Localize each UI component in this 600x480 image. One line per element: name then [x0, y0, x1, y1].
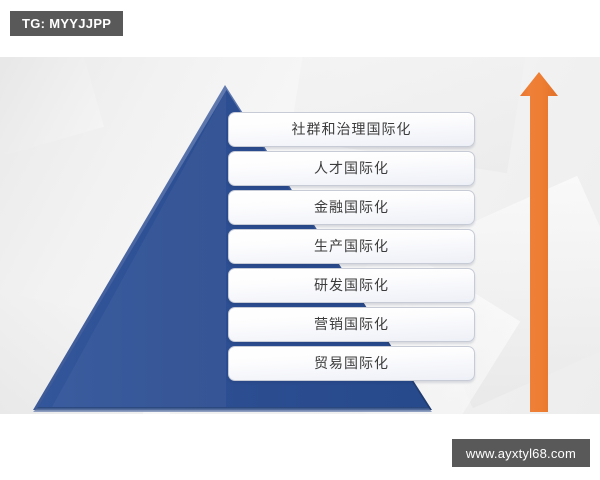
pyramid-level-3[interactable]: 金融国际化 — [228, 190, 475, 225]
pyramid-level-1-label: 社群和治理国际化 — [292, 123, 412, 137]
pyramid-level-2[interactable]: 人才国际化 — [228, 151, 475, 186]
pyramid-level-6-label: 营销国际化 — [314, 318, 389, 332]
pyramid-level-2-label: 人才国际化 — [314, 162, 389, 176]
pyramid-level-3-label: 金融国际化 — [314, 201, 389, 215]
pyramid-level-5-label: 研发国际化 — [314, 279, 389, 293]
pyramid-level-7-label: 贸易国际化 — [314, 357, 389, 371]
slide-canvas: 社群和治理国际化 人才国际化 金融国际化 生产国际化 研发国际化 营销国际化 贸… — [0, 57, 600, 414]
pyramid-level-4[interactable]: 生产国际化 — [228, 229, 475, 264]
up-arrow-svg — [518, 70, 560, 413]
site-watermark: www.ayxtyl68.com — [452, 439, 590, 467]
pyramid-level-5[interactable]: 研发国际化 — [228, 268, 475, 303]
pyramid-level-1[interactable]: 社群和治理国际化 — [228, 112, 475, 147]
pyramid-level-4-label: 生产国际化 — [314, 240, 389, 254]
tg-badge-label: TG: MYYJJPP — [22, 16, 111, 31]
arrow-shape — [520, 72, 558, 412]
pyramid-base-shadow — [33, 407, 432, 412]
up-arrow-icon — [518, 70, 560, 413]
tg-badge: TG: MYYJJPP — [10, 11, 123, 36]
pyramid-level-7[interactable]: 贸易国际化 — [228, 346, 475, 381]
pyramid-level-6[interactable]: 营销国际化 — [228, 307, 475, 342]
pyramid-level-list: 社群和治理国际化 人才国际化 金融国际化 生产国际化 研发国际化 营销国际化 贸… — [228, 112, 475, 381]
site-watermark-label: www.ayxtyl68.com — [466, 446, 576, 461]
